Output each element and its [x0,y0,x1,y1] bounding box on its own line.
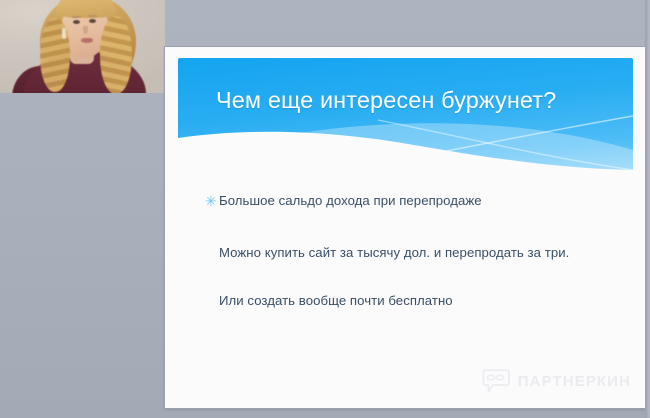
paragraph-one: Можно купить сайт за тысячу дол. и переп… [205,244,591,263]
paragraph-two: Или создать вообще почти бесплатно [205,292,591,311]
player-right-gutter [645,0,650,418]
spacer-one [205,211,605,244]
speech-bubble-sunglasses-icon [481,368,511,394]
asterisk-bullet-icon: ✳ [205,192,219,210]
webcam-video-overlay [0,0,165,93]
slide-body: ✳ Большое сальдо дохода при перепродаже … [205,192,605,311]
watermark-label: ПАРТНЕРКИН [518,373,631,390]
video-player-screen: Чем еще интересен буржунет? ✳ Большое са… [0,0,650,418]
bullet-item: ✳ Большое сальдо дохода при перепродаже [205,192,605,211]
slide-header-banner: Чем еще интересен буржунет? [178,58,633,174]
header-wave-graphic [178,58,633,174]
bullet-item-label: Большое сальдо дохода при перепродаже [219,192,605,211]
presentation-slide: Чем еще интересен буржунет? ✳ Большое са… [165,47,645,408]
slide-title: Чем еще интересен буржунет? [216,88,619,114]
watermark: ПАРТНЕРКИН [481,368,631,394]
spacer-two [205,262,605,292]
presenter-webcam[interactable] [0,0,165,93]
